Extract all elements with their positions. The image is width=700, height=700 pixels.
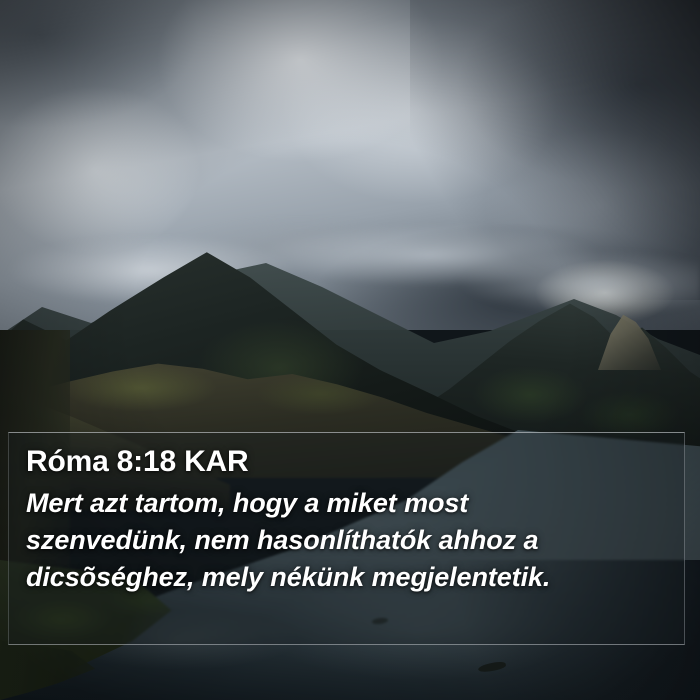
verse-reference: Róma 8:18 KAR: [26, 443, 684, 481]
verse-text-line-1: Mert azt tartom, hogy a miket most: [26, 485, 684, 522]
verse-text: Mert azt tartom, hogy a miket most szenv…: [26, 485, 684, 596]
verse-overlay-panel: Róma 8:18 KAR Mert azt tartom, hogy a mi…: [8, 432, 685, 645]
verse-text-line-2: szenvedünk, nem hasonlíthatók ahhoz a: [26, 522, 684, 559]
verse-text-line-3: dicsõséghez, mely nékünk megjelentetik.: [26, 559, 684, 596]
verse-image-canvas: Róma 8:18 KAR Mert azt tartom, hogy a mi…: [0, 0, 700, 700]
